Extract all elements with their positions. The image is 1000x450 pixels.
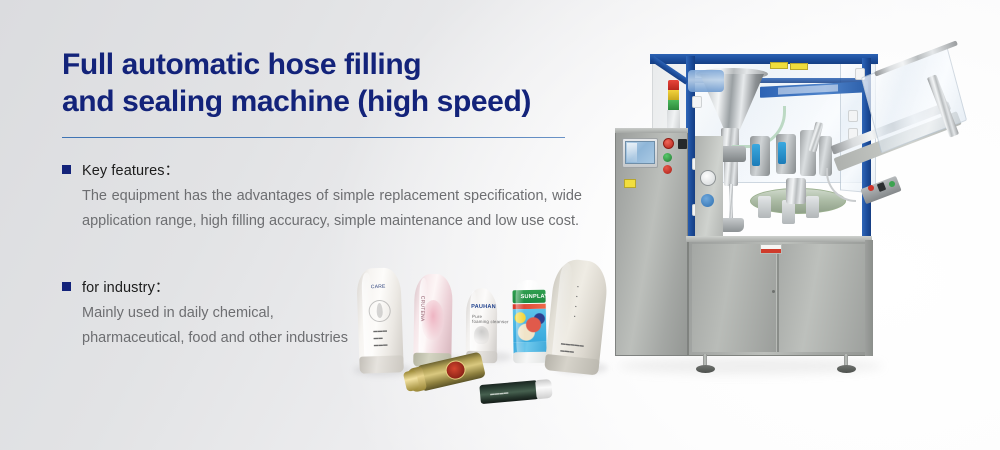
hopper-collar [688,70,724,92]
product-banner: Full automatic hose filling and sealing … [0,0,1000,450]
turntable-center-hub [786,178,806,204]
page-title-line-2: and sealing machine (high speed) [62,83,582,120]
pressure-gauge [700,170,716,186]
tube-cap-white [535,379,553,399]
machine-right-side-panel [865,240,873,356]
leveling-foot-pad [837,365,856,373]
section-heading-row: Key features： [62,162,582,180]
tube-text: foaming cleanser [472,319,509,324]
tube-cap [359,355,404,374]
tube-text: ▪ [576,294,578,299]
warning-label-sticker [770,62,788,69]
emergency-stop-button[interactable] [663,138,674,149]
machine-frame-top-bar [650,54,878,64]
guard-bracket [692,96,702,108]
square-bullet-icon [62,282,71,291]
section-heading-label: Key features： [82,162,179,180]
tube-text: ▪ [577,284,579,289]
turntable-tube-holder [758,196,771,218]
tube-sunplay: SUNPLAY [511,280,547,363]
cabinet-door-lock[interactable] [772,290,775,293]
status-light-tower-yellow [668,90,679,100]
tube-brand-label: CRUTENA [419,296,425,322]
tube-brand-label: PAUHAN [471,304,496,310]
stop-button[interactable] [663,165,672,174]
cabinet-door-right[interactable] [779,244,865,352]
status-light-tower-red [668,80,679,90]
section-body-text: Mainly used in daily chemical, pharmaceu… [82,301,354,351]
product-tubes-photo: CARE ▬▬▬ ▬▬ ▬▬▬ CRUTENA PAUHAN Pure foam… [348,252,613,422]
tube-text: ▬▬ [374,335,383,340]
selector-switch[interactable] [678,139,687,149]
tube-text: ▬▬▬ [373,328,387,333]
pressure-regulator-knob [701,194,714,207]
warning-label-sticker [790,63,808,70]
leveling-foot-pad [696,365,715,373]
tube-text: ▪ [575,304,577,309]
page-title-line-1: Full automatic hose filling [62,46,582,83]
status-light-tower-green [668,100,679,110]
tube-highlight [516,283,525,359]
sensor-blue-2 [778,142,786,164]
tube-brand-label: CARE [371,284,386,291]
section-body-text: The equipment has the advantages of simp… [82,184,582,234]
machine-lower-body-top-edge [686,236,872,242]
ce-mark-label [624,179,636,188]
headline-block: Full automatic hose filling and sealing … [62,46,582,120]
cabinet-door-left[interactable] [692,244,776,352]
tube-graphic [474,326,489,344]
turntable-tube-holder [806,196,819,218]
machine-inner-column [695,136,723,241]
square-bullet-icon [62,165,71,174]
title-divider [62,137,565,138]
tube-text: ▪ [574,314,576,319]
warning-label-red-bar [761,249,781,253]
tube-brand-label: SUNPLAY [521,294,549,300]
start-button[interactable] [663,153,672,162]
guard-bracket [848,110,858,122]
tube-body [479,380,538,404]
tube-pauhan: PAUHAN Pure foaming cleanser [466,288,498,362]
tube-crutena: CRUTENA [413,274,453,367]
section-key-features: Key features： The equipment has the adva… [62,162,582,234]
sensor-blue-1 [752,144,760,166]
hmi-screen-glare [627,143,637,162]
tube-cap [513,352,548,364]
section-for-industry: for industry： Mainly used in daily chemi… [62,279,362,351]
tube-care: CARE ▬▬▬ ▬▬ ▬▬▬ [356,267,404,372]
tube-text: ▬▬▬ [374,342,388,347]
control-cabinet-top [615,128,688,133]
tube-highlight [469,291,476,359]
piston-rod [729,184,733,222]
section-heading-label: for industry： [82,279,170,297]
machine-illustration [600,18,1000,432]
tube-dark-green-horizontal: ▬▬▬▬ [479,379,552,404]
section-heading-row: for industry： [62,279,362,297]
